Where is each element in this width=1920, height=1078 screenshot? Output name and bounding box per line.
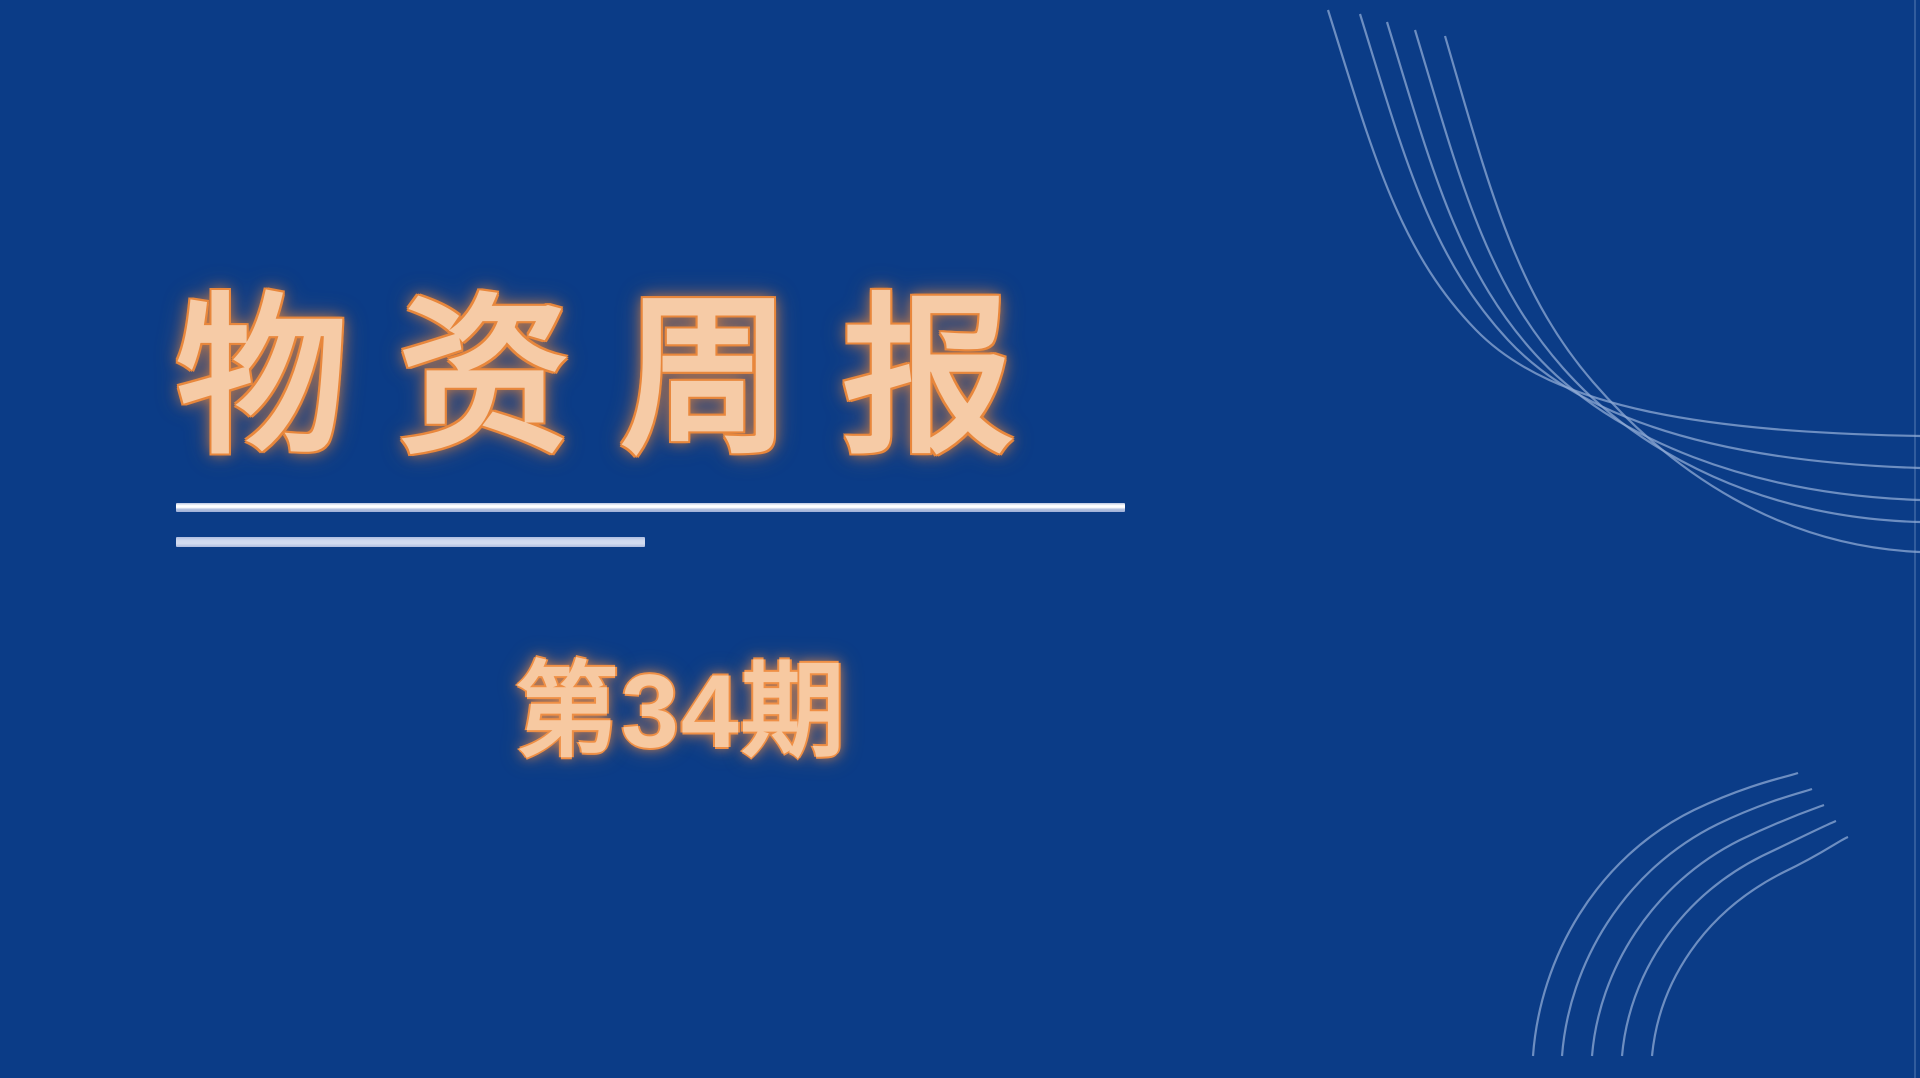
title-underline-group xyxy=(176,503,1125,547)
page-subtitle-issue: 第34期 xyxy=(515,655,847,769)
title-block: 物资周报 xyxy=(176,292,1176,464)
title-slide: 物资周报 第34期 xyxy=(0,0,1920,1078)
page-title: 物资周报 xyxy=(176,292,1176,464)
title-underline-primary xyxy=(176,503,1125,512)
right-edge-hairline xyxy=(1914,0,1916,1078)
arc-ribbon-bottom-right-decoration xyxy=(1500,748,1920,1078)
s-curve-ribbon-top-right-decoration xyxy=(1280,0,1920,600)
title-underline-secondary xyxy=(176,537,645,547)
